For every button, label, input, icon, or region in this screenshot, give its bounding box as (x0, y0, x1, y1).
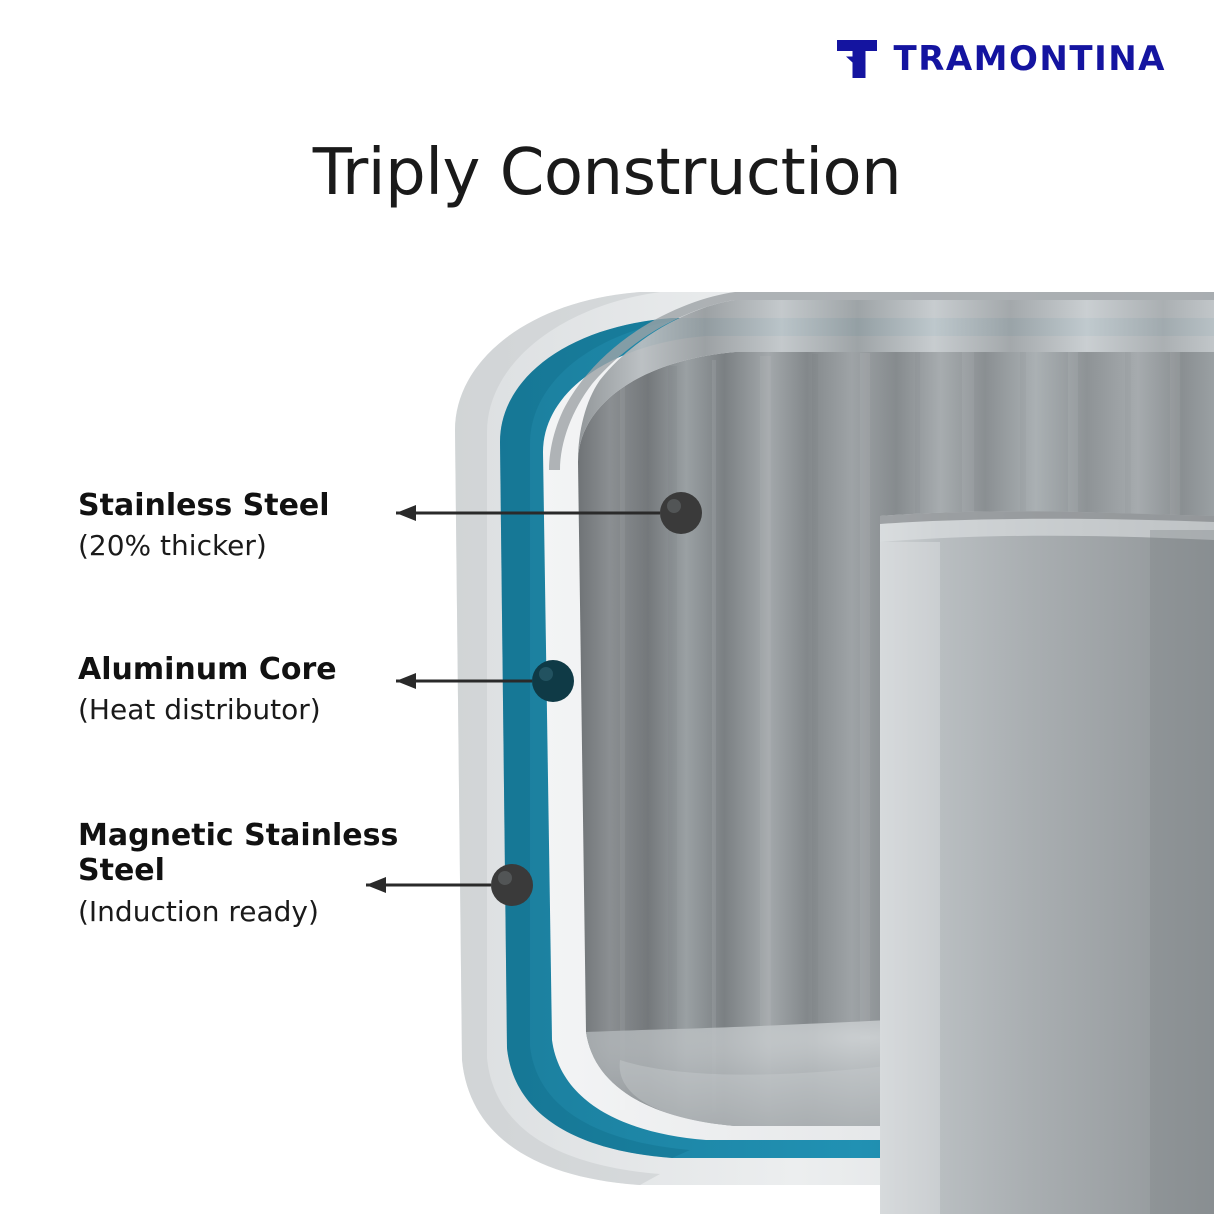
callout-subtext: (20% thicker) (78, 529, 408, 563)
brand-logo: TRAMONTINA (834, 36, 1167, 82)
page-title: Triply Construction (0, 136, 1214, 210)
callout-stainless-steel: Stainless Steel (20% thicker) (78, 488, 408, 563)
callout-magnetic-stainless-steel: Magnetic Stainless Steel (Induction read… (78, 818, 478, 928)
callout-subtext: (Induction ready) (78, 895, 478, 929)
diagram-page: TRAMONTINA Triply Construction Stainless… (0, 0, 1214, 1214)
tramontina-t-icon (834, 36, 880, 82)
callout-heading: Magnetic Stainless Steel (78, 818, 478, 889)
callout-heading: Aluminum Core (78, 652, 408, 687)
callout-aluminum-core: Aluminum Core (Heat distributor) (78, 652, 408, 727)
brand-wordmark: TRAMONTINA (894, 42, 1167, 76)
callout-heading: Stainless Steel (78, 488, 408, 523)
callout-subtext: (Heat distributor) (78, 693, 408, 727)
